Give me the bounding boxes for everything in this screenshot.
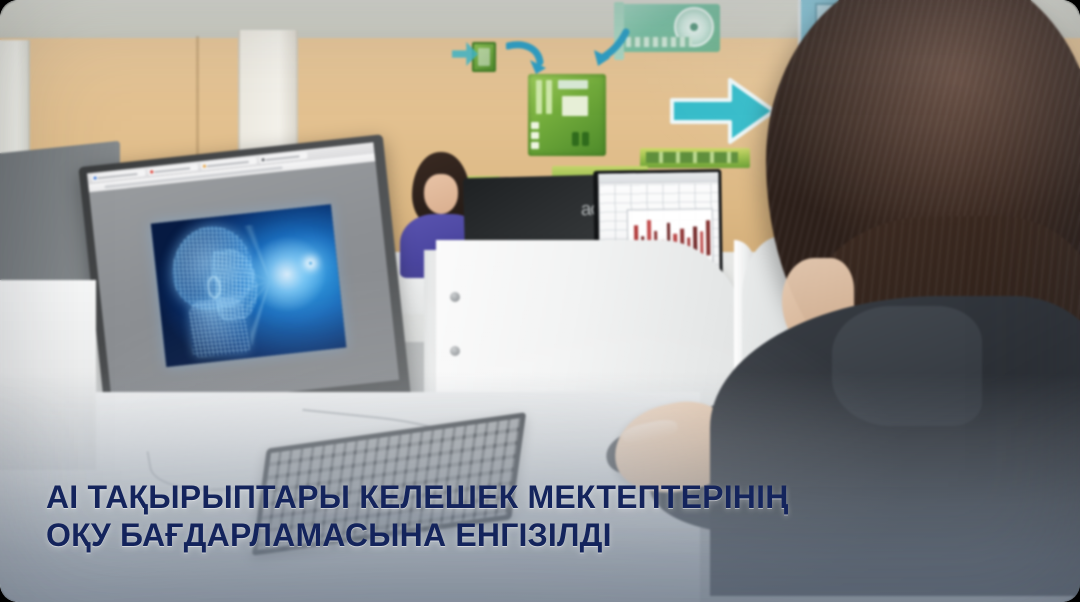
video-frame: acer	[0, 0, 1080, 602]
divider-bolt	[450, 292, 460, 302]
desk-left-panel	[0, 280, 96, 470]
arrow-decal-left	[506, 40, 550, 76]
monitor-main-screen	[87, 142, 399, 411]
divider-bolt	[450, 346, 460, 356]
ai-wireframe-head-image	[150, 205, 346, 367]
wireframe-head	[162, 221, 273, 357]
gpu-card-decal	[622, 4, 720, 52]
bar	[706, 221, 710, 256]
arrow-decal-right	[586, 28, 630, 72]
monitor-main: acer	[78, 134, 411, 435]
cpu-chip-decal	[472, 42, 496, 72]
foreground-student	[736, 0, 1080, 602]
news-photo: acer	[0, 0, 1080, 602]
light-burst	[309, 262, 312, 265]
motherboard-decal	[528, 74, 606, 156]
